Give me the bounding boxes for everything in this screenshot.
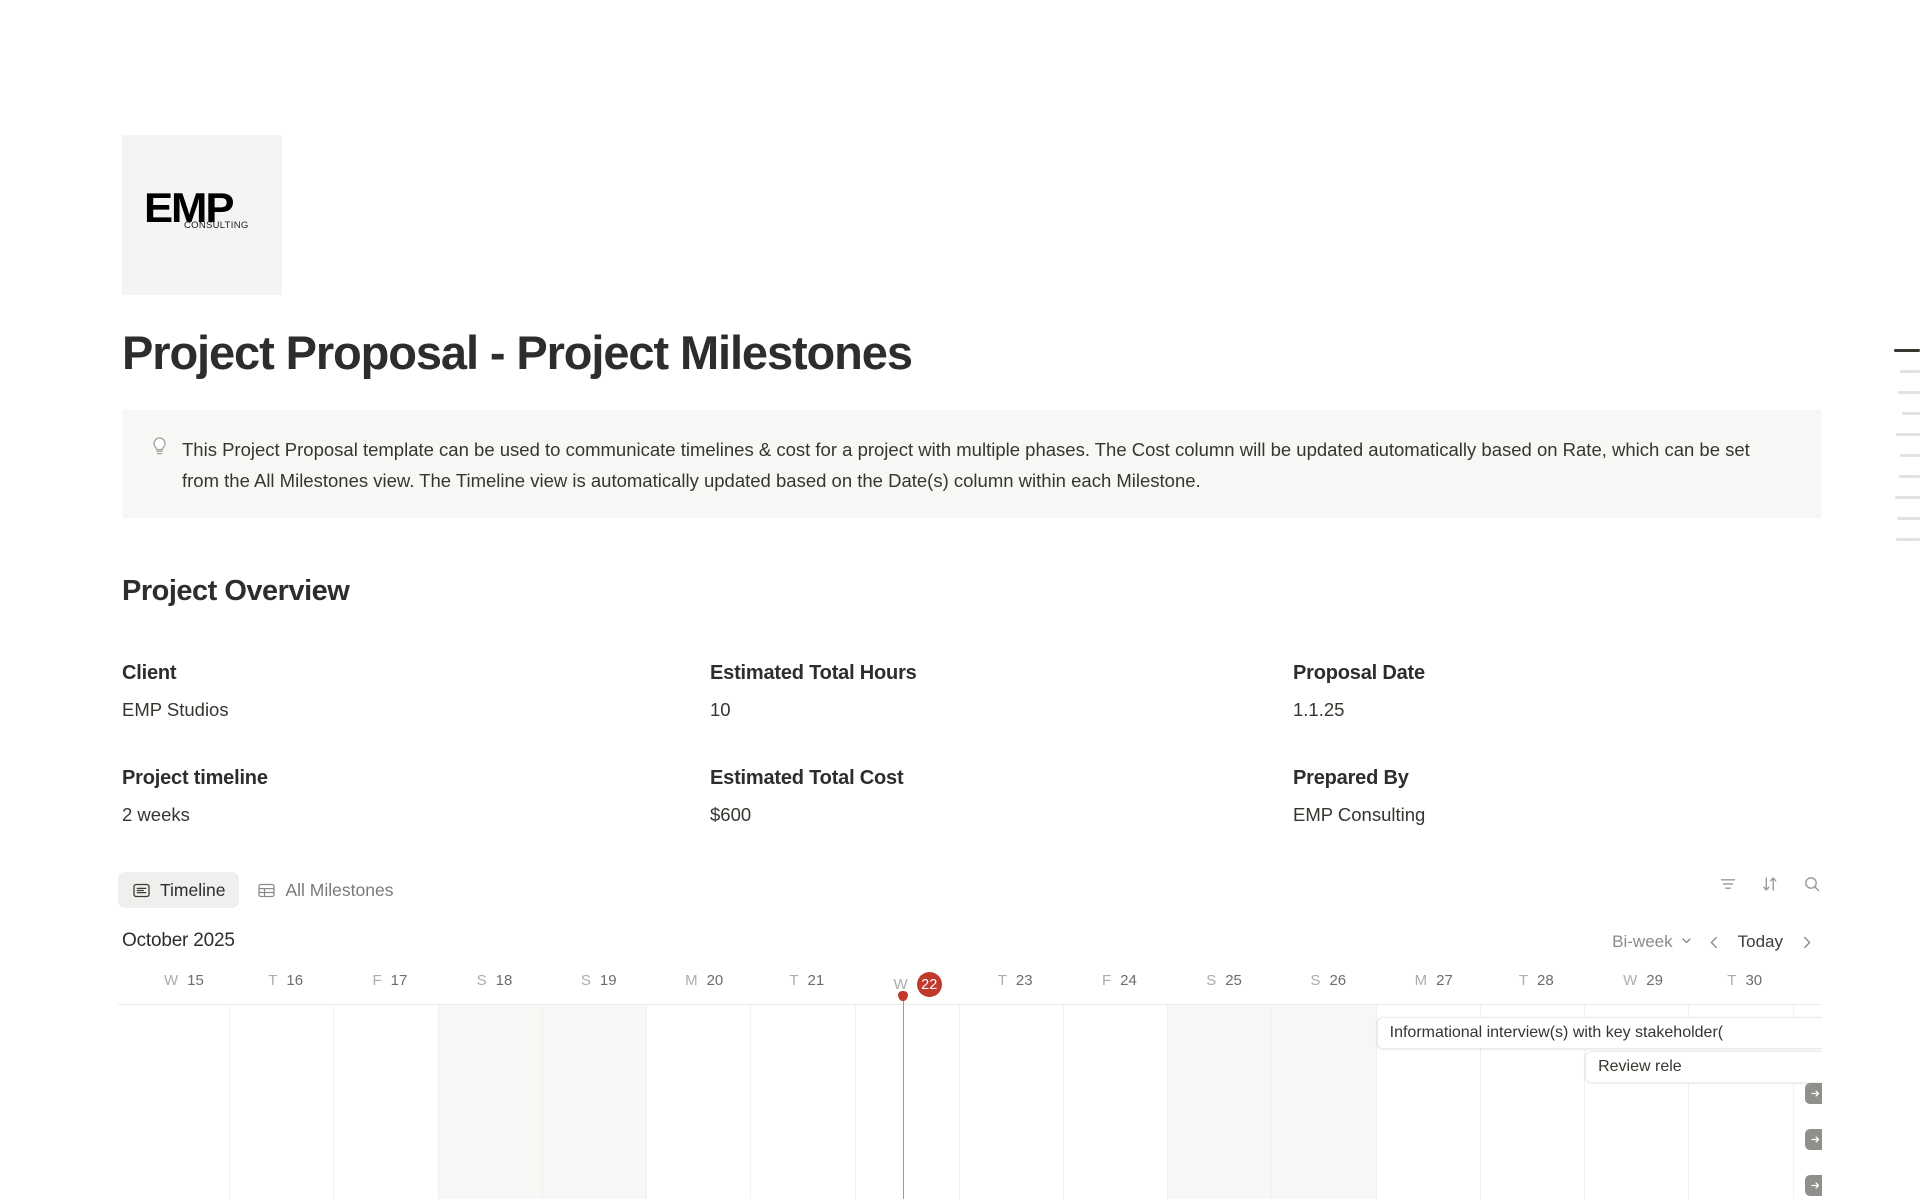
timeline-day-headers: W15T16F17S18S19M20T21W22T23F24S25S26M27T… [118, 972, 1822, 1000]
timeline-column [543, 1005, 647, 1199]
field-value: $600 [710, 803, 1293, 827]
outline-minimap-dash [1894, 349, 1920, 352]
day-number: 22 [917, 972, 942, 997]
timeline-column [751, 1005, 855, 1199]
timeline-column [334, 1005, 438, 1199]
timeline-today-button[interactable]: Today [1729, 929, 1792, 955]
timeline-day-header: W29 [1623, 972, 1663, 989]
timeline-icon [132, 881, 151, 900]
field-label: Client [122, 660, 710, 686]
timeline-day-header: T16 [268, 972, 303, 989]
timeline-prev-button[interactable] [1701, 928, 1729, 956]
field-value: 1.1.25 [1293, 698, 1682, 722]
timeline-column [960, 1005, 1064, 1199]
range-label: Bi-week [1612, 932, 1672, 952]
timeline-header: October 2025 Bi-week [118, 928, 1822, 966]
day-of-week: S [581, 972, 591, 989]
field-label: Estimated Total Cost [710, 765, 1293, 791]
view-toolbar [1718, 874, 1822, 894]
day-of-week: T [1519, 972, 1528, 989]
arrow-right-icon[interactable] [1805, 1129, 1822, 1150]
chevron-down-icon [1680, 932, 1693, 952]
outline-minimap-dash [1895, 496, 1920, 499]
outline-minimap-item[interactable] [1860, 508, 1920, 529]
outline-minimap-item[interactable] [1860, 340, 1920, 361]
day-number: 17 [391, 972, 408, 989]
day-of-week: T [998, 972, 1007, 989]
timeline-next-button[interactable] [1792, 928, 1820, 956]
timeline-column [1168, 1005, 1272, 1199]
day-of-week: S [1206, 972, 1216, 989]
timeline-day-header: S18 [477, 972, 513, 989]
filter-icon[interactable] [1718, 874, 1738, 894]
day-of-week: M [1415, 972, 1428, 989]
day-number: 21 [807, 972, 824, 989]
field-value: EMP Studios [122, 698, 710, 722]
timeline-day-header: S19 [581, 972, 617, 989]
timeline-day-header: T30 [1727, 972, 1762, 989]
outline-minimap-dash [1900, 454, 1920, 457]
outline-minimap-dash [1897, 517, 1920, 520]
timeline-column [1064, 1005, 1168, 1199]
field-value: 10 [710, 698, 1293, 722]
outline-minimap-dash [1896, 538, 1920, 541]
timeline-range-selector[interactable]: Bi-week [1604, 929, 1700, 955]
tab-all-milestones[interactable]: All Milestones [243, 872, 407, 908]
overview-field-proposal-date: Proposal Date 1.1.25 [1293, 660, 1682, 765]
arrow-right-icon[interactable] [1805, 1083, 1822, 1104]
day-of-week: S [477, 972, 487, 989]
project-overview-grid: Client EMP Studios Estimated Total Hours… [122, 660, 1682, 827]
day-number: 27 [1436, 972, 1453, 989]
timeline-day-header: M27 [1415, 972, 1453, 989]
timeline-day-header: F17 [372, 972, 407, 989]
company-logo: EMP CONSULTING [122, 135, 282, 295]
view-tabs: Timeline All Milestones [118, 872, 407, 908]
field-label: Prepared By [1293, 765, 1682, 791]
day-of-week: W [164, 972, 178, 989]
timeline-grid: Informational interview(s) with key stak… [118, 1004, 1822, 1199]
overview-field-project-timeline: Project timeline 2 weeks [122, 765, 710, 827]
day-number: 30 [1745, 972, 1762, 989]
overview-field-estimated-total-cost: Estimated Total Cost $600 [710, 765, 1293, 827]
day-of-week: F [1102, 972, 1111, 989]
timeline-column [126, 1005, 230, 1199]
timeline-day-header: S26 [1310, 972, 1346, 989]
outline-minimap-dash [1902, 412, 1920, 415]
day-number: 19 [600, 972, 617, 989]
day-of-week: T [1727, 972, 1736, 989]
field-label: Project timeline [122, 765, 710, 791]
day-number: 18 [496, 972, 513, 989]
timeline-navigation: Bi-week Today [1604, 928, 1820, 956]
outline-minimap-dash [1898, 391, 1920, 394]
search-icon[interactable] [1802, 874, 1822, 894]
timeline-column [230, 1005, 334, 1199]
outline-minimap-item[interactable] [1860, 403, 1920, 424]
day-number: 16 [286, 972, 303, 989]
tab-timeline[interactable]: Timeline [118, 872, 239, 908]
field-value: 2 weeks [122, 803, 710, 827]
outline-minimap-item[interactable] [1860, 466, 1920, 487]
today-marker-line [903, 995, 904, 1199]
day-number: 29 [1646, 972, 1663, 989]
timeline-column [439, 1005, 543, 1199]
timeline-day-header: S25 [1206, 972, 1242, 989]
overview-field-prepared-by: Prepared By EMP Consulting [1293, 765, 1682, 827]
outline-minimap-item[interactable] [1860, 487, 1920, 508]
day-of-week: T [789, 972, 798, 989]
day-number: 23 [1016, 972, 1033, 989]
timeline-day-header: T21 [789, 972, 824, 989]
day-of-week: M [685, 972, 698, 989]
outline-minimap-item[interactable] [1860, 529, 1920, 550]
logo-mark: EMP CONSULTING [144, 187, 264, 247]
timeline-view: October 2025 Bi-week [118, 928, 1822, 1199]
outline-minimap-dash [1899, 475, 1920, 478]
timeline-task-card[interactable]: Review rele [1585, 1051, 1822, 1083]
sort-icon[interactable] [1760, 874, 1780, 894]
outline-minimap-item[interactable] [1860, 361, 1920, 382]
field-label: Proposal Date [1293, 660, 1682, 686]
timeline-column [647, 1005, 751, 1199]
logo-subtext: CONSULTING [184, 220, 249, 231]
outline-minimap[interactable] [1860, 340, 1920, 550]
timeline-day-header: T23 [998, 972, 1033, 989]
callout-text: This Project Proposal template can be us… [182, 434, 1782, 496]
timeline-column [856, 1005, 960, 1199]
day-number: 26 [1329, 972, 1346, 989]
day-of-week: W [1623, 972, 1637, 989]
day-number: 25 [1225, 972, 1242, 989]
day-number: 28 [1537, 972, 1554, 989]
overview-field-client: Client EMP Studios [122, 660, 710, 765]
day-of-week: S [1310, 972, 1320, 989]
day-number: 24 [1120, 972, 1137, 989]
tab-label: Timeline [160, 880, 225, 901]
timeline-day-header: T28 [1519, 972, 1554, 989]
field-value: EMP Consulting [1293, 803, 1682, 827]
day-number: 20 [707, 972, 724, 989]
timeline-task-card[interactable]: Informational interview(s) with key stak… [1377, 1017, 1822, 1049]
info-callout: This Project Proposal template can be us… [122, 410, 1822, 518]
day-of-week: F [372, 972, 381, 989]
day-of-week: T [268, 972, 277, 989]
overview-field-estimated-total-hours: Estimated Total Hours 10 [710, 660, 1293, 765]
tab-label: All Milestones [285, 880, 393, 901]
day-number: 15 [187, 972, 204, 989]
lightbulb-icon [148, 437, 170, 461]
database-view-bar: Timeline All Milestones [118, 872, 1822, 914]
outline-minimap-dash [1896, 433, 1920, 436]
timeline-day-header: W15 [164, 972, 204, 989]
outline-minimap-item[interactable] [1860, 424, 1920, 445]
outline-minimap-item[interactable] [1860, 382, 1920, 403]
outline-minimap-dash [1900, 370, 1920, 373]
table-icon [257, 881, 276, 900]
outline-minimap-item[interactable] [1860, 445, 1920, 466]
page-title: Project Proposal - Project Milestones [122, 325, 912, 381]
timeline-month-label: October 2025 [122, 930, 235, 952]
arrow-right-icon[interactable] [1805, 1175, 1822, 1196]
timeline-column [1272, 1005, 1376, 1199]
section-heading-project-overview: Project Overview [122, 575, 349, 608]
page-root: EMP CONSULTING Project Proposal - Projec… [0, 0, 1920, 1199]
field-label: Estimated Total Hours [710, 660, 1293, 686]
timeline-day-header: F24 [1102, 972, 1137, 989]
timeline-day-header: M20 [685, 972, 723, 989]
